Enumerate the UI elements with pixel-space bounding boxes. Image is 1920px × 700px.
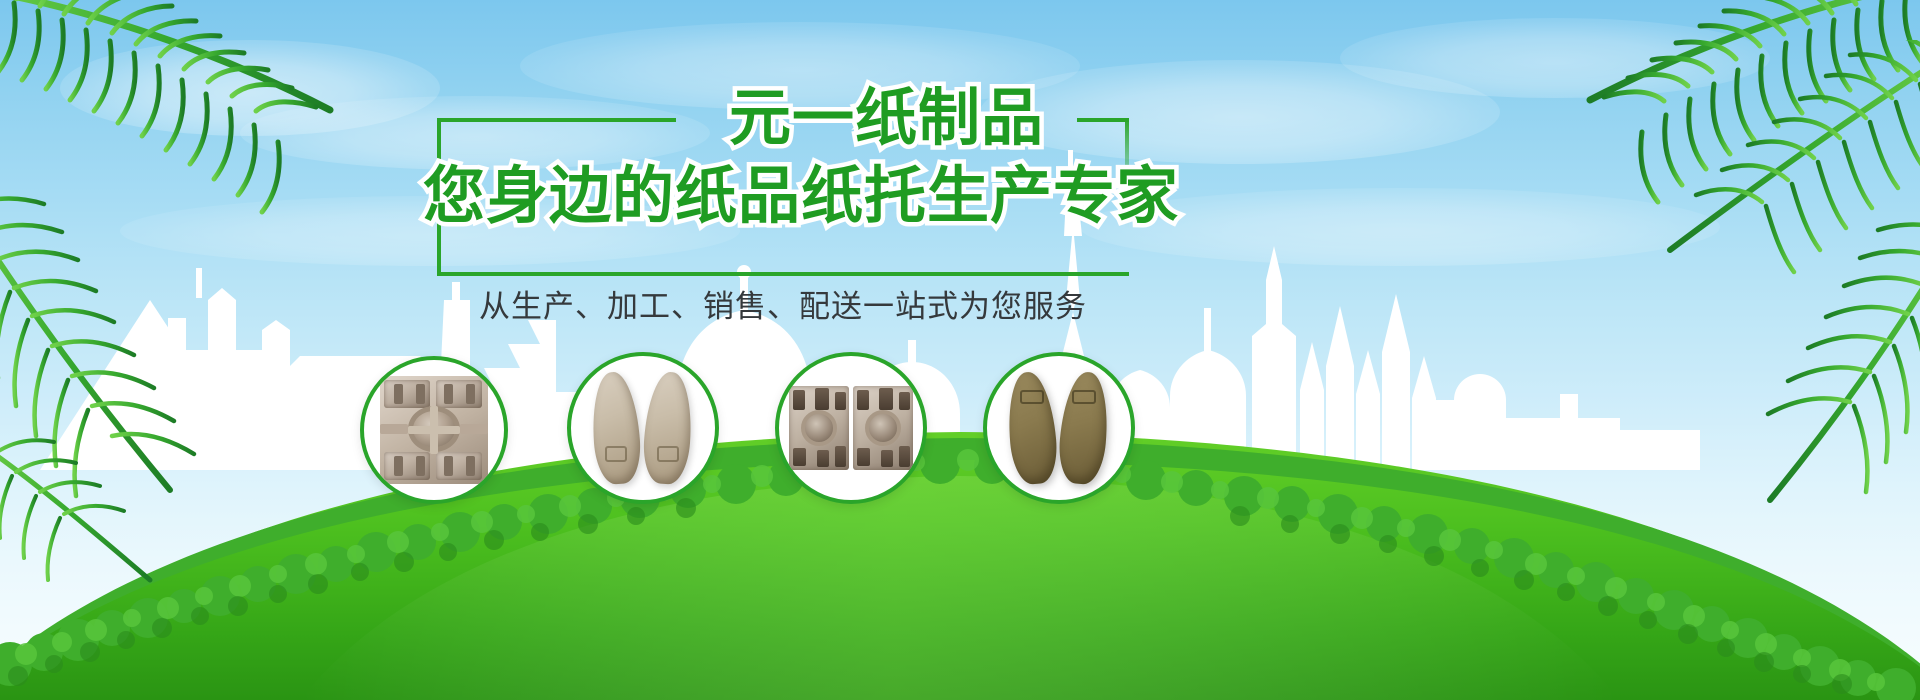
palm-frond-right-mid [1610, 40, 1920, 320]
cloud-5 [1340, 18, 1770, 98]
banner-subtitle: 从生产、加工、销售、配送一站式为您服务 [437, 288, 1129, 326]
palm-frond-top-right [1540, 0, 1920, 260]
pulp-mold-tray-square [380, 376, 488, 484]
grass-hill [0, 320, 1920, 700]
pulp-mold-tray-double [789, 386, 913, 470]
cloud-1 [60, 40, 440, 136]
promo-banner: 元一纸制品 您身边的纸品纸托生产专家 从生产、加工、销售、配送一站式为您服务 [0, 0, 1920, 700]
product-circle-3[interactable] [775, 352, 927, 504]
paper-pulp-insole-pair-light [587, 368, 699, 488]
headline-line-1: 元一纸制品 [729, 82, 1129, 154]
paper-pulp-insole-pair-olive [1003, 368, 1115, 488]
product-circle-4[interactable] [983, 352, 1135, 504]
product-circle-2[interactable] [567, 352, 719, 504]
frame-line-bottom [437, 272, 1129, 276]
product-circle-1[interactable] [360, 356, 508, 504]
headline-frame: 元一纸制品 您身边的纸品纸托生产专家 [437, 118, 1129, 276]
frame-line-top-left [437, 118, 676, 122]
headline-line-2: 您身边的纸品纸托生产专家 [423, 160, 1143, 232]
palm-frond-top-left [0, 0, 380, 270]
